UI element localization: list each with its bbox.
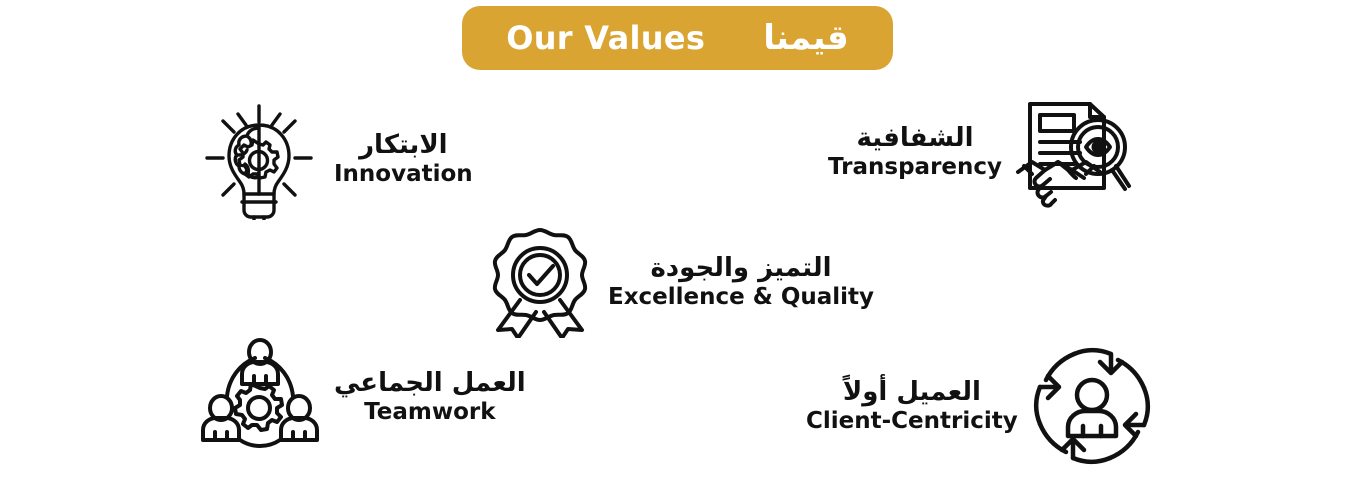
person-cycle-arrows-icon	[1028, 342, 1156, 470]
value-item-innovation: الابتكار Innovation	[196, 98, 473, 220]
our-values-header-badge: Our Values قيمنا	[462, 6, 893, 70]
three-people-gear-icon	[198, 336, 322, 458]
value-label-english: Client-Centricity	[806, 409, 1018, 433]
value-label-arabic: التميز والجودة	[650, 255, 831, 284]
document-magnifier-eye-handshake-icon	[1012, 96, 1140, 208]
value-item-transparency: الشفافية Transparency	[828, 96, 1140, 208]
value-labels-client-centricity: العميل أولاً Client-Centricity	[806, 379, 1018, 432]
value-label-english: Transparency	[828, 155, 1002, 179]
value-labels-teamwork: العمل الجماعي Teamwork	[334, 370, 526, 423]
value-label-arabic: الشفافية	[857, 125, 974, 154]
value-label-arabic: العمل الجماعي	[334, 370, 526, 399]
value-label-english: Excellence & Quality	[608, 285, 874, 309]
rosette-check-badge-icon	[484, 226, 596, 338]
header-title-arabic: قيمنا	[763, 21, 849, 55]
header-title-english: Our Values	[506, 22, 705, 54]
value-labels-excellence-quality: التميز والجودة Excellence & Quality	[608, 255, 874, 308]
value-label-arabic: العميل أولاً	[843, 379, 981, 408]
value-labels-innovation: الابتكار Innovation	[334, 132, 473, 185]
value-label-english: Innovation	[334, 162, 473, 186]
value-item-teamwork: العمل الجماعي Teamwork	[198, 336, 526, 458]
value-label-english: Teamwork	[364, 400, 495, 424]
value-label-arabic: الابتكار	[359, 132, 448, 161]
lightbulb-brain-gear-icon	[196, 98, 322, 220]
value-labels-transparency: الشفافية Transparency	[828, 125, 1002, 178]
value-item-excellence-quality: التميز والجودة Excellence & Quality	[484, 226, 874, 338]
value-item-client-centricity: العميل أولاً Client-Centricity	[806, 342, 1156, 470]
